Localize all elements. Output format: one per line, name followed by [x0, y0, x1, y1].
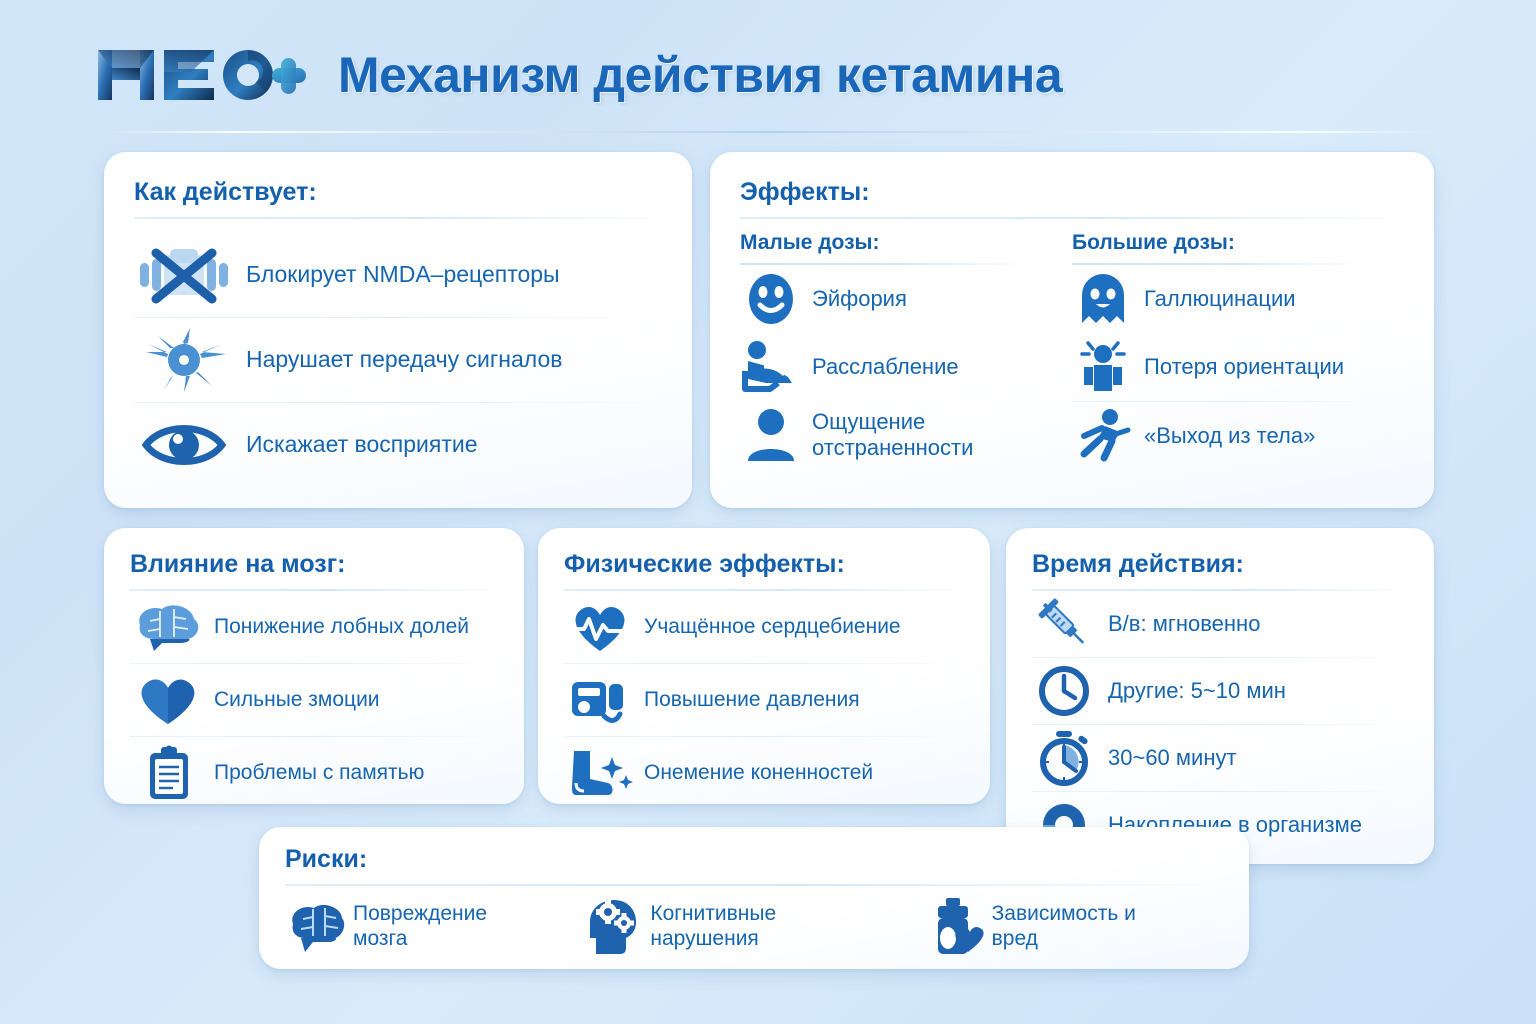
list-item-label: В/в: мгновенно [1108, 611, 1260, 637]
list-item: Галлюцинации [1072, 265, 1386, 333]
person-silhouette-icon [740, 405, 802, 465]
list-item-label: Онемение коненностей [644, 761, 873, 786]
list-item: «Выход из тела» [1072, 402, 1386, 470]
list-item-label: Понижение лобных долей [214, 615, 469, 640]
damaged-brain-icon [285, 896, 347, 958]
list-item: Когнитивные нарушения [582, 896, 877, 958]
card-physical-effects: Физические эффекты: Учащённое сердцебиен… [538, 528, 990, 804]
list-item: Учащённое сердцебиение [564, 591, 964, 663]
stopwatch-icon [1032, 729, 1096, 787]
card-effects: Эффекты: Малые дозы: Эйфория [710, 152, 1434, 508]
list-item: 30~60 минут [1032, 725, 1408, 791]
list-item-label: Учащённое сердцебиение [644, 615, 901, 640]
card-title: Физические эффекты: [564, 550, 964, 579]
floating-person-icon [1072, 406, 1134, 466]
list-item-label: Эйфория [812, 286, 907, 312]
list-item-label: «Выход из тела» [1144, 423, 1315, 449]
list-item-label: 30~60 минут [1108, 745, 1237, 771]
heart-icon [130, 672, 206, 728]
list-item-label: Зависимость и вред [992, 902, 1177, 952]
list-item-label: Ощущение отстраненности [812, 409, 1054, 461]
effects-column-high-dose: Большие дозы: Галлюцинации [1072, 231, 1404, 470]
card-title: Влияние на мозг: [130, 550, 498, 579]
card-how-it-works: Как действует: [104, 152, 692, 508]
card-duration: Время действия: [1006, 528, 1434, 864]
card-title: Эффекты: [740, 178, 1404, 207]
infographic-canvas: Механизм действия кетамина Как действует… [0, 0, 1536, 1024]
reclining-person-icon [740, 337, 802, 397]
list-item-label: Галлюцинации [1144, 286, 1296, 312]
card-title: Риски: [285, 845, 1223, 874]
head-gears-icon [582, 896, 644, 958]
list-item: Онемение коненностей [564, 737, 964, 809]
list-item: Проблемы с памятью [130, 737, 498, 809]
list-item: В/в: мгновенно [1032, 591, 1408, 657]
eye-icon [134, 413, 234, 477]
header-divider [104, 131, 1434, 133]
list-item-label: Проблемы с памятью [214, 761, 424, 786]
pill-bottle-icon [924, 896, 986, 958]
list-item-label: Повреждение мозга [353, 902, 536, 952]
list-item: Потеря ориентации [1072, 333, 1386, 401]
neuron-icon [134, 328, 234, 392]
list-item: Другие: 5~10 мин [1032, 658, 1408, 724]
card-brain-impact: Влияние на мозг: Понижение лобных долей [104, 528, 524, 804]
list-item: Искажает восприятие [134, 403, 662, 487]
list-item: Понижение лобных долей [130, 591, 498, 663]
title-divider [134, 217, 662, 219]
blood-pressure-monitor-icon [564, 672, 636, 728]
list-item-label: Блокирует NMDA–рецепторы [246, 261, 560, 288]
list-item-label: Потеря ориентации [1144, 354, 1344, 380]
numb-foot-icon [564, 745, 636, 801]
heartbeat-icon [564, 599, 636, 655]
page-title: Механизм действия кетамина [338, 46, 1062, 104]
list-item-label: Расслабление [812, 354, 959, 380]
list-item: Зависимость и вред [924, 896, 1177, 958]
list-item: Повреждение мозга [285, 896, 536, 958]
list-item-label: Сильные змоции [214, 688, 380, 713]
list-item: Эйфория [740, 265, 1054, 333]
card-title: Как действует: [134, 178, 662, 207]
list-item: Блокирует NMDA–рецепторы [134, 233, 662, 317]
list-item: Расслабление [740, 333, 1054, 401]
smiley-face-icon [740, 269, 802, 329]
list-item-label: Повышение давления [644, 688, 860, 713]
card-title: Время действия: [1032, 550, 1408, 579]
brain-icon [130, 599, 206, 655]
list-item: Повышение давления [564, 664, 964, 736]
brand-logo [96, 42, 306, 108]
list-item: Сильные змоции [130, 664, 498, 736]
syringe-icon [1032, 595, 1096, 653]
list-item-label: Когнитивные нарушения [650, 902, 877, 952]
list-item-label: Нарушает передачу сигналов [246, 346, 562, 373]
list-item-label: Другие: 5~10 мин [1108, 678, 1286, 704]
clipboard-icon [130, 745, 206, 801]
title-divider [285, 884, 1223, 886]
ghost-icon [1072, 269, 1134, 329]
list-item: Ощущение отстраненности [740, 401, 1054, 469]
effects-column-low-dose: Малые дозы: Эйфория [740, 231, 1072, 470]
blocked-receptor-icon [134, 243, 234, 307]
clock-icon [1032, 662, 1096, 720]
column-title: Малые дозы: [740, 231, 1054, 255]
dizzy-person-icon [1072, 337, 1134, 397]
list-item-label: Искажает восприятие [246, 431, 478, 458]
title-divider [740, 217, 1404, 219]
column-title: Большие дозы: [1072, 231, 1386, 255]
card-risks: Риски: Повреждение мозга [259, 827, 1249, 969]
list-item: Нарушает передачу сигналов [134, 318, 662, 402]
